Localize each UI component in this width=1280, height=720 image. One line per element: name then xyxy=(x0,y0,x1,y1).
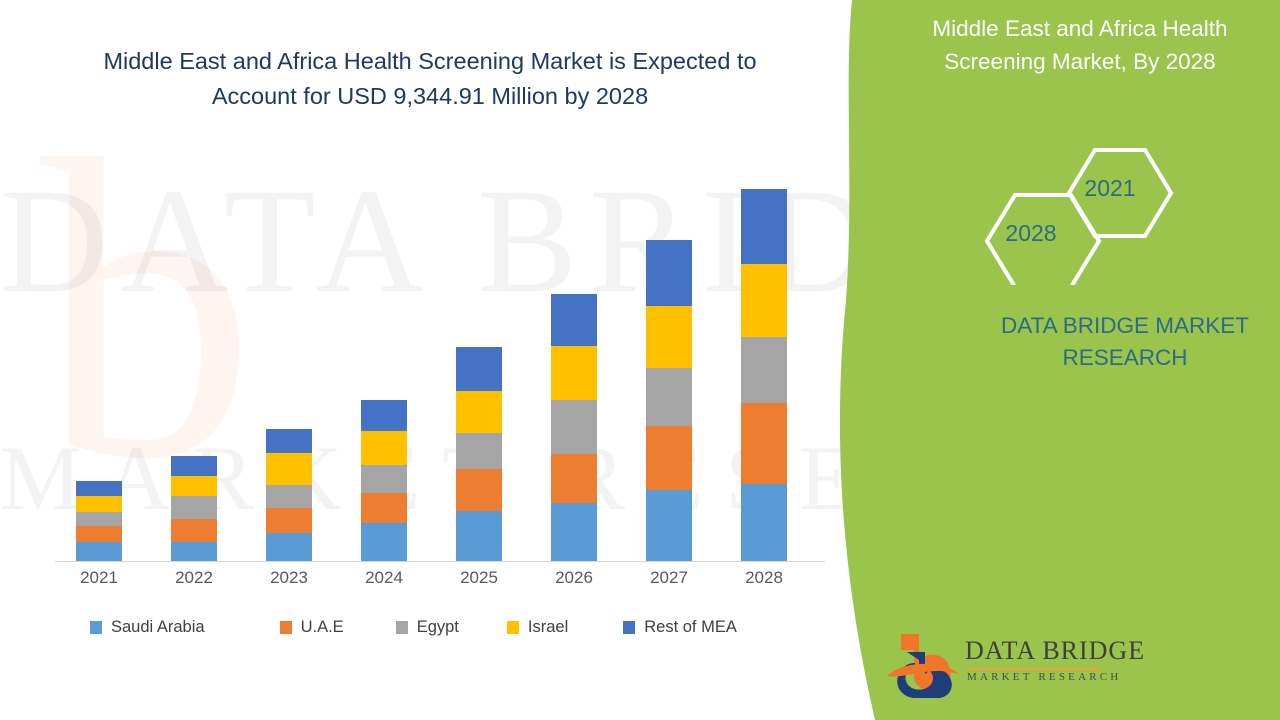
bar-segment-egypt-2028[interactable] xyxy=(741,337,787,403)
panel-title: Middle East and Africa Health Screening … xyxy=(880,12,1280,78)
legend-swatch-icon xyxy=(507,621,519,634)
legend-swatch-icon xyxy=(623,621,635,634)
bar-segment-egypt-2025[interactable] xyxy=(456,433,502,469)
x-axis-label-2022: 2022 xyxy=(159,568,229,588)
legend-label: Rest of MEA xyxy=(644,618,737,637)
x-axis-label-2028: 2028 xyxy=(729,568,799,588)
bar-segment-u-a-e-2026[interactable] xyxy=(551,454,597,503)
bar-segment-egypt-2022[interactable] xyxy=(171,496,217,519)
chart-legend: Saudi ArabiaU.A.EEgyptIsraelRest of MEA xyxy=(90,612,820,642)
bar-segment-u-a-e-2024[interactable] xyxy=(361,493,407,523)
bar-2024[interactable] xyxy=(361,400,407,561)
legend-label: Egypt xyxy=(417,618,459,637)
legend-swatch-icon xyxy=(280,621,292,634)
x-axis-label-2024: 2024 xyxy=(349,568,419,588)
bar-segment-rest-of-mea-2022[interactable] xyxy=(171,456,217,476)
bar-segment-rest-of-mea-2027[interactable] xyxy=(646,240,692,306)
bar-segment-israel-2025[interactable] xyxy=(456,391,502,433)
bar-2028[interactable] xyxy=(741,189,787,561)
hexagon-group: 2021 2028 xyxy=(975,145,1195,285)
bar-segment-rest-of-mea-2024[interactable] xyxy=(361,400,407,431)
bar-2021[interactable] xyxy=(76,481,122,561)
x-axis-line xyxy=(55,561,825,562)
bar-segment-saudi-arabia-2026[interactable] xyxy=(551,503,597,561)
bar-segment-israel-2028[interactable] xyxy=(741,264,787,337)
bar-segment-israel-2024[interactable] xyxy=(361,431,407,465)
legend-swatch-icon xyxy=(396,621,408,634)
bar-2026[interactable] xyxy=(551,294,597,561)
bar-segment-saudi-arabia-2022[interactable] xyxy=(171,542,217,561)
logo-mark-icon xyxy=(885,630,963,698)
bar-segment-egypt-2027[interactable] xyxy=(646,368,692,426)
bar-segment-rest-of-mea-2026[interactable] xyxy=(551,294,597,346)
bar-segment-rest-of-mea-2025[interactable] xyxy=(456,347,502,391)
bar-segment-saudi-arabia-2021[interactable] xyxy=(76,542,122,561)
bar-segment-saudi-arabia-2024[interactable] xyxy=(361,523,407,561)
bar-segment-u-a-e-2025[interactable] xyxy=(456,469,502,511)
x-axis-label-2026: 2026 xyxy=(539,568,609,588)
bar-segment-saudi-arabia-2027[interactable] xyxy=(646,490,692,561)
x-axis-label-2023: 2023 xyxy=(254,568,324,588)
infographic-canvas: b DATA BRIDGE MARKET RESEARCH Middle Eas… xyxy=(0,0,1280,720)
bar-segment-israel-2021[interactable] xyxy=(76,496,122,512)
panel-brand-text: DATA BRIDGE MARKET RESEARCH xyxy=(975,310,1275,374)
bar-segment-rest-of-mea-2021[interactable] xyxy=(76,481,122,496)
bar-2027[interactable] xyxy=(646,240,692,561)
x-axis-label-2021: 2021 xyxy=(64,568,134,588)
bar-2023[interactable] xyxy=(266,429,312,561)
bar-segment-u-a-e-2028[interactable] xyxy=(741,403,787,484)
logo-subtitle: MARKET RESEARCH xyxy=(967,671,1121,683)
x-axis-label-2025: 2025 xyxy=(444,568,514,588)
bar-segment-u-a-e-2022[interactable] xyxy=(171,519,217,542)
legend-item-rest-of-mea[interactable]: Rest of MEA xyxy=(623,618,737,637)
legend-item-egypt[interactable]: Egypt xyxy=(396,618,459,637)
bar-segment-u-a-e-2027[interactable] xyxy=(646,426,692,490)
legend-item-israel[interactable]: Israel xyxy=(507,618,568,637)
hexagon-shapes xyxy=(975,145,1195,285)
bar-segment-israel-2027[interactable] xyxy=(646,306,692,368)
bar-2025[interactable] xyxy=(456,347,502,561)
bar-2022[interactable] xyxy=(171,456,217,561)
bar-segment-egypt-2021[interactable] xyxy=(76,512,122,526)
bar-segment-israel-2022[interactable] xyxy=(171,476,217,496)
bar-segment-u-a-e-2023[interactable] xyxy=(266,508,312,533)
legend-label: Saudi Arabia xyxy=(111,618,205,637)
bar-segment-saudi-arabia-2023[interactable] xyxy=(266,533,312,561)
legend-label: Israel xyxy=(528,618,568,637)
bar-segment-egypt-2024[interactable] xyxy=(361,465,407,493)
bar-segment-egypt-2026[interactable] xyxy=(551,400,597,454)
logo-divider xyxy=(967,668,1101,670)
bar-segment-saudi-arabia-2025[interactable] xyxy=(456,511,502,561)
bar-segment-israel-2023[interactable] xyxy=(266,453,312,485)
hexagon-2021-label: 2021 xyxy=(1075,175,1145,202)
bar-segment-egypt-2023[interactable] xyxy=(266,485,312,508)
chart-title: Middle East and Africa Health Screening … xyxy=(60,44,800,114)
data-bridge-logo: DATA BRIDGE MARKET RESEARCH xyxy=(885,630,1115,700)
hexagon-2028-label: 2028 xyxy=(990,220,1072,247)
legend-item-saudi-arabia[interactable]: Saudi Arabia xyxy=(90,618,205,637)
legend-swatch-icon xyxy=(90,621,102,634)
legend-label: U.A.E xyxy=(301,618,344,637)
legend-item-u-a-e[interactable]: U.A.E xyxy=(280,618,344,637)
x-axis-labels: 20212022202320242025202620272028 xyxy=(55,568,825,598)
x-axis-label-2027: 2027 xyxy=(634,568,704,588)
bar-segment-saudi-arabia-2028[interactable] xyxy=(741,484,787,561)
bar-segment-rest-of-mea-2023[interactable] xyxy=(266,429,312,453)
bar-segment-israel-2026[interactable] xyxy=(551,346,597,400)
logo-title: DATA BRIDGE xyxy=(965,636,1145,666)
bar-segment-u-a-e-2021[interactable] xyxy=(76,526,122,542)
stacked-bar-chart xyxy=(55,170,825,562)
bar-segment-rest-of-mea-2028[interactable] xyxy=(741,189,787,264)
